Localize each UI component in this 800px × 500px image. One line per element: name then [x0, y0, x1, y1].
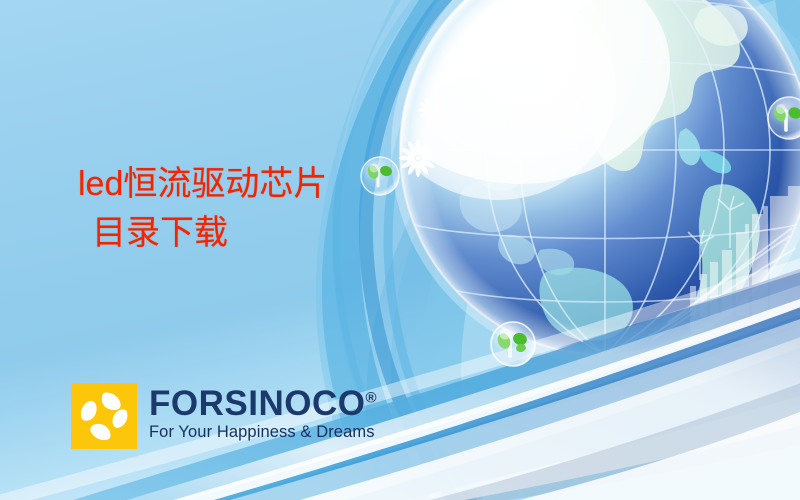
bubble-sprout-left — [361, 157, 399, 195]
registered-trademark-icon: ® — [365, 389, 377, 406]
logo-wordmark-text: FORSINOCO — [149, 384, 365, 423]
logo-text-block: FORSINOCO® For Your Happiness & Dreams — [149, 383, 377, 441]
logo-tagline: For Your Happiness & Dreams — [149, 423, 377, 441]
promo-banner: led恒流驱动芯片 目录下载 FORSINOCO® For Your Happi… — [0, 0, 800, 500]
bubble-sprout-bottom — [491, 322, 535, 366]
forsinoco-pinwheel-icon — [71, 383, 137, 449]
logo-wordmark: FORSINOCO® — [149, 387, 377, 420]
company-logo[interactable]: FORSINOCO® For Your Happiness & Dreams — [71, 383, 377, 449]
